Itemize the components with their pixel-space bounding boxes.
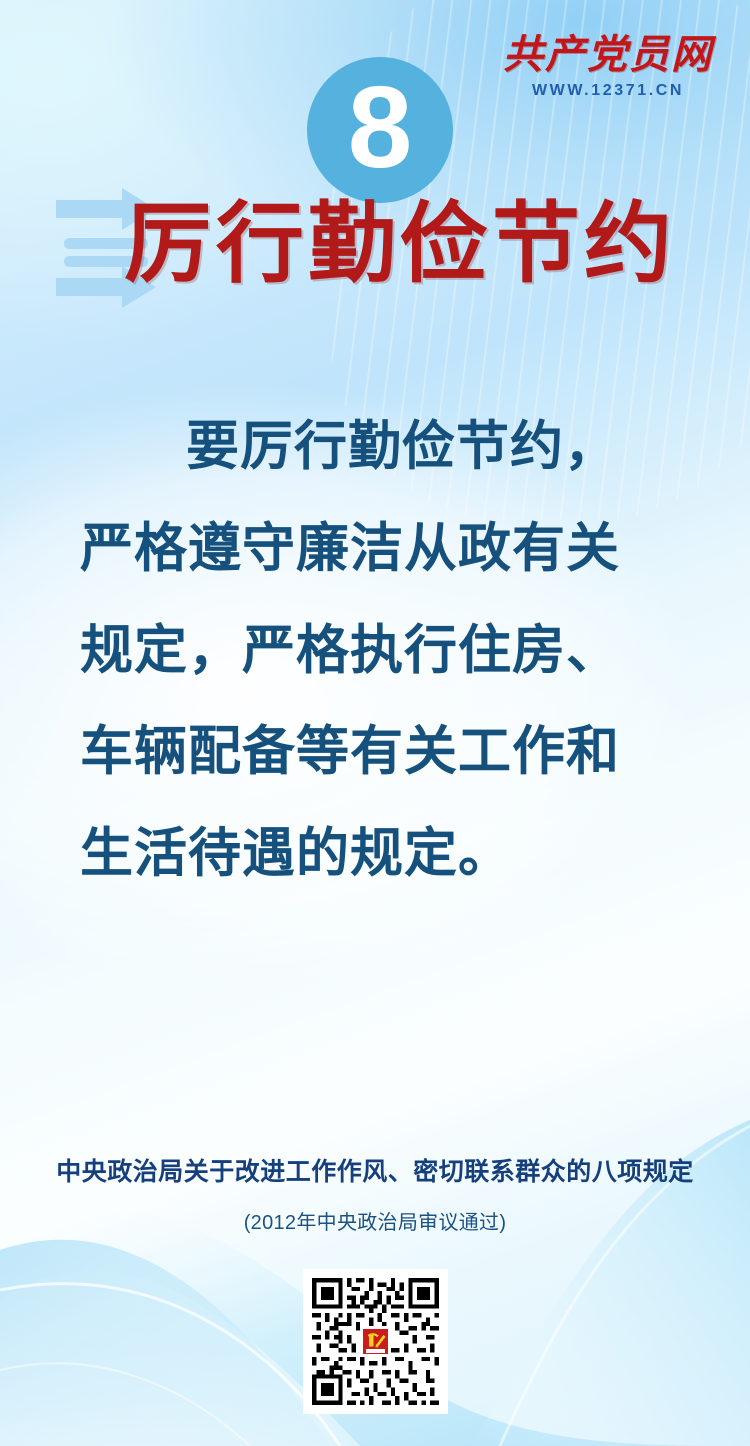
body-line-4: 车辆配备等有关工作和 bbox=[80, 701, 672, 803]
body-line-1: 要厉行勤俭节约， bbox=[80, 396, 672, 498]
logo-name-text: 共产党员网 bbox=[492, 34, 724, 76]
rule-number-text: 8 bbox=[348, 69, 413, 185]
poster-canvas: 共产党员网 WWW.12371.CN 8 厉行勤俭节约 要厉行勤俭节约， 严格遵… bbox=[0, 0, 750, 1446]
rule-number-badge: 8 bbox=[307, 57, 453, 203]
qr-code[interactable] bbox=[303, 1269, 448, 1414]
footer-title: 中央政治局关于改进工作作风、密切联系群众的八项规定 bbox=[0, 1152, 750, 1188]
body-line-5: 生活待遇的规定。 bbox=[80, 803, 672, 905]
body-line-3: 规定，严格执行住房、 bbox=[80, 600, 672, 702]
logo-url-text: WWW.12371.CN bbox=[492, 82, 724, 100]
body-paragraph: 要厉行勤俭节约， 严格遵守廉洁从政有关 规定，严格执行住房、 车辆配备等有关工作… bbox=[80, 396, 672, 905]
footer-subtitle: (2012年中央政治局审议通过) bbox=[0, 1206, 750, 1235]
qr-code-matrix bbox=[312, 1278, 439, 1405]
party-emblem-icon bbox=[360, 1326, 391, 1357]
body-line-2: 严格遵守廉洁从政有关 bbox=[80, 498, 672, 600]
site-logo[interactable]: 共产党员网 WWW.12371.CN bbox=[492, 34, 724, 100]
page-title: 厉行勤俭节约 bbox=[124, 196, 676, 291]
